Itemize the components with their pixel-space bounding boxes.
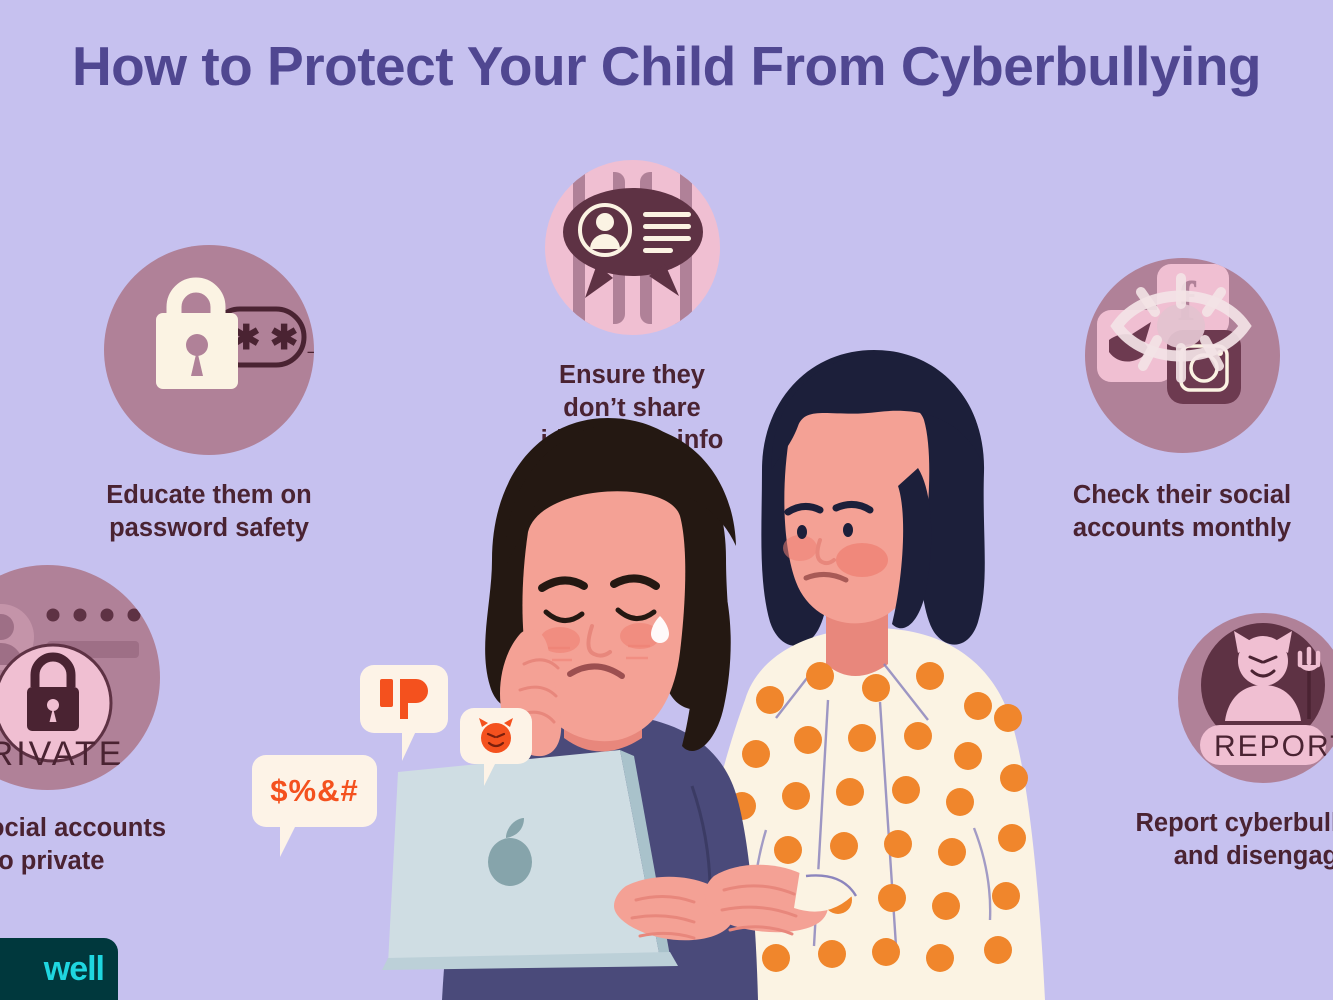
svg-text:✱ ✱ _: ✱ ✱ _ <box>232 319 314 357</box>
thumbs-down-icon <box>378 677 430 721</box>
teen-face <box>522 491 685 741</box>
tip-check-social: f Check their social accounts monthly <box>1085 258 1333 544</box>
private-profile-lock-icon: PRIVATE <box>0 565 160 790</box>
tip-identifying-info: Ensure they don’t share identifying info <box>545 160 817 457</box>
tip-label-set-private: Set social accounts to private <box>0 812 257 877</box>
chat-bubble-profile-icon <box>545 160 720 335</box>
tip-label-report-disengage: Report cyberbullying and disengage <box>1063 807 1333 872</box>
tip-label-identifying-info: Ensure they don’t share identifying info <box>447 359 817 457</box>
padlock-asterisks-icon: ✱ ✱ _ <box>104 245 314 455</box>
logo-text: well <box>44 950 104 989</box>
troll-report-icon: REPORT <box>1178 613 1333 783</box>
bubble-thumbs-down <box>360 665 448 733</box>
angry-devil-face-icon <box>475 717 517 755</box>
tip-label-password-safety: Educate them on password safety <box>0 479 419 544</box>
svg-text:PRIVATE: PRIVATE <box>0 735 124 773</box>
mother-blouse <box>683 628 1045 1000</box>
laptop-lid <box>388 750 660 964</box>
icon-circle-report: REPORT <box>1178 613 1333 783</box>
icon-circle-private: PRIVATE <box>0 565 160 790</box>
infographic-canvas: How to Protect Your Child From Cyberbull… <box>0 0 1333 1000</box>
apple-logo-icon <box>488 838 532 886</box>
teen-hands <box>614 877 734 941</box>
bubble-curse-symbols: $%&# <box>252 755 377 827</box>
social-apps-eye-icon: f <box>1085 258 1280 453</box>
svg-text:REPORT: REPORT <box>1214 730 1333 763</box>
tip-label-check-social: Check their social accounts monthly <box>982 479 1333 544</box>
mother-hand <box>705 865 828 933</box>
icon-circle-identify <box>545 160 720 335</box>
icon-circle-password: ✱ ✱ _ <box>104 245 314 455</box>
tip-set-private: PRIVATE Set social accounts to private <box>0 565 257 877</box>
tear-icon <box>651 616 669 643</box>
tip-password-safety: ✱ ✱ _ Educate them on password safety <box>104 245 419 544</box>
page-title: How to Protect Your Child From Cyberbull… <box>0 34 1333 98</box>
tip-report-disengage: REPORT Report cyberbullying and disengag… <box>1178 613 1333 872</box>
curse-symbols-text: $%&# <box>270 773 358 809</box>
bubble-devil-face <box>460 708 532 764</box>
verywell-logo[interactable]: well <box>0 938 118 1000</box>
teen-hair <box>485 418 729 710</box>
polka-dots <box>708 662 1028 978</box>
icon-circle-check-social: f <box>1085 258 1280 453</box>
